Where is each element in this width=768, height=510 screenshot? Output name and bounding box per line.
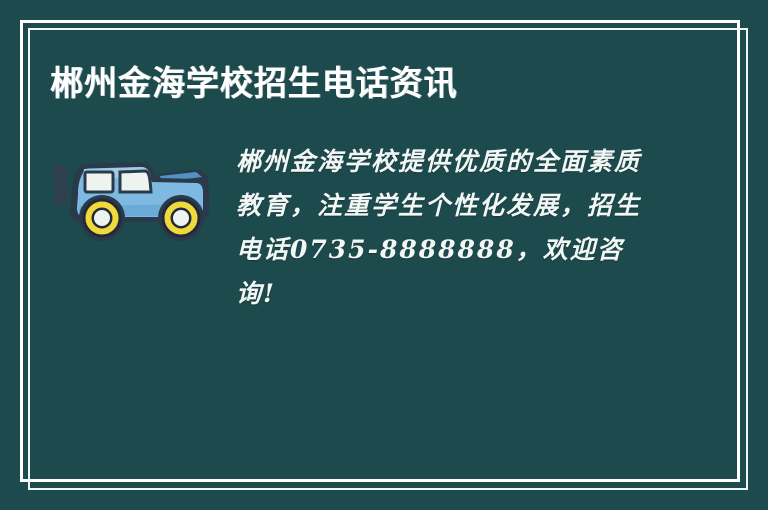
page-title: 郴州金海学校招生电话资讯 xyxy=(50,64,457,104)
poster-canvas: 郴州金海学校招生电话资讯 xyxy=(0,0,768,510)
body-paragraph: 郴州金海学校提供优质的全面素质教育，注重学生个性化发展，招生电话0735-888… xyxy=(236,140,661,316)
content-row: 郴州金海学校提供优质的全面素质教育，注重学生个性化发展，招生电话0735-888… xyxy=(50,140,708,316)
jeep-icon xyxy=(50,148,220,253)
